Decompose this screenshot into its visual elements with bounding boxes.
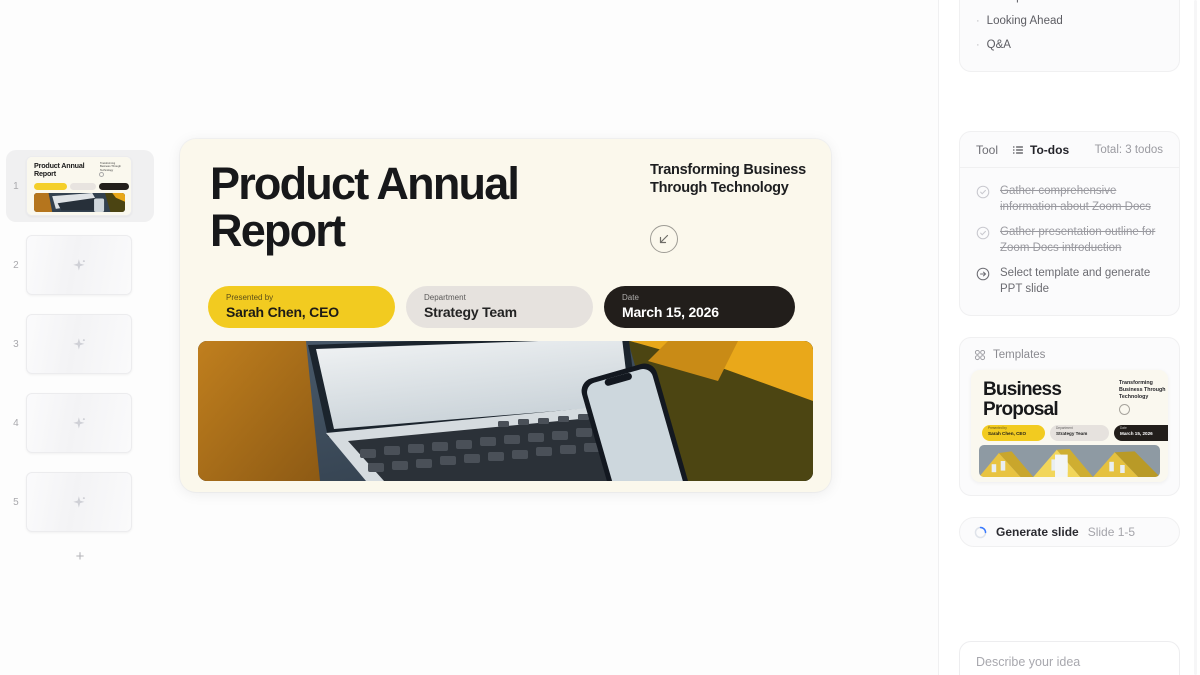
mini-photo bbox=[34, 193, 125, 212]
slide-editor[interactable]: Product Annual Report Transforming Busin… bbox=[180, 139, 831, 492]
templates-card: Templates Business Proposal Transforming… bbox=[959, 337, 1180, 496]
template-pill-presented-by: Presented by Sarah Chen, CEO bbox=[982, 425, 1045, 441]
slide-thumbnail-preview bbox=[26, 314, 132, 374]
slide-tagline[interactable]: Transforming Business Through Technology bbox=[650, 161, 810, 198]
tab-todos-label: To-dos bbox=[1030, 143, 1069, 157]
slide-photo[interactable] bbox=[198, 341, 813, 481]
bullet-icon: · bbox=[976, 38, 980, 53]
mini-slide-title: Product Annual Report bbox=[34, 162, 96, 179]
template-meta-value: March 15, 2026 bbox=[1120, 431, 1168, 437]
todo-label: Gather presentation outline for Zoom Doc… bbox=[1000, 225, 1163, 256]
sparkle-icon bbox=[72, 495, 87, 510]
slide-thumbnail-3[interactable]: 3 bbox=[6, 308, 154, 380]
mini-pill-date bbox=[99, 183, 129, 190]
slide-thumbnail-2[interactable]: 2 bbox=[6, 229, 154, 301]
meta-pill-presented-by[interactable]: Presented by Sarah Chen, CEO bbox=[208, 286, 395, 328]
template-meta-value: Sarah Chen, CEO bbox=[988, 431, 1039, 437]
arrow-down-left-icon bbox=[650, 225, 678, 253]
idea-input-placeholder[interactable]: Describe your idea bbox=[976, 655, 1163, 669]
slide-canvas: Product Annual Report Transforming Busin… bbox=[168, 0, 938, 675]
template-photo bbox=[979, 445, 1160, 477]
slide-thumbnail-preview bbox=[26, 393, 132, 453]
outline-item-label: Example Use Case bbox=[987, 0, 1085, 5]
meta-label: Date bbox=[622, 294, 777, 303]
slide-thumbnail-1[interactable]: 1 Product Annual Report Transforming Bus… bbox=[6, 150, 154, 222]
slide-number: 3 bbox=[6, 339, 26, 350]
add-slide-row: + bbox=[6, 545, 154, 567]
todos-header: Tool To-dos Total: 3 todos bbox=[960, 132, 1179, 168]
generate-status-bar[interactable]: Generate slide Slide 1-5 bbox=[959, 517, 1180, 547]
meta-label: Department bbox=[424, 294, 575, 303]
outline-item[interactable]: · Q&A bbox=[976, 33, 1163, 57]
arrow-right-circle-icon bbox=[976, 267, 991, 286]
template-meta-label: Presented by bbox=[988, 427, 1039, 431]
generate-range: Slide 1-5 bbox=[1088, 525, 1135, 539]
meta-pill-date[interactable]: Date March 15, 2026 bbox=[604, 286, 795, 328]
template-pill-department: Department Strategy Team bbox=[1050, 425, 1109, 441]
slide-number: 4 bbox=[6, 418, 26, 429]
todos-total: Total: 3 todos bbox=[1095, 144, 1163, 156]
todo-item[interactable]: Select template and generate PPT slide bbox=[976, 261, 1163, 302]
outline-card: · Features · Customer Value · Example Us… bbox=[959, 0, 1180, 72]
template-meta-value: Strategy Team bbox=[1056, 431, 1103, 437]
todo-item[interactable]: Gather comprehensive information about Z… bbox=[976, 179, 1163, 220]
slide-number: 2 bbox=[6, 260, 26, 271]
assistant-panel: · Features · Customer Value · Example Us… bbox=[938, 0, 1200, 675]
add-slide-button[interactable]: + bbox=[69, 545, 91, 567]
outline-item[interactable]: · Looking Ahead bbox=[976, 9, 1163, 33]
todos-list: Gather comprehensive information about Z… bbox=[960, 168, 1179, 315]
todo-label: Gather comprehensive information about Z… bbox=[1000, 184, 1163, 215]
template-title: Business Proposal bbox=[983, 380, 1103, 420]
template-meta-label: Department bbox=[1056, 427, 1103, 431]
slide-thumbnail-preview bbox=[26, 472, 132, 532]
tab-tool[interactable]: Tool bbox=[976, 143, 998, 157]
slide-thumbnail-preview: Product Annual Report Transforming Busin… bbox=[26, 156, 132, 216]
slide-thumbnail-4[interactable]: 4 bbox=[6, 387, 154, 459]
template-meta-label: Date bbox=[1120, 427, 1168, 431]
outline-item-label: Looking Ahead bbox=[987, 14, 1063, 29]
template-tagline: Transforming Business Through Technology bbox=[1119, 380, 1168, 401]
sparkle-icon bbox=[72, 337, 87, 352]
mini-pill-department bbox=[70, 183, 96, 190]
mini-slide-tagline: Transforming Business Through Technology bbox=[100, 162, 126, 172]
grid-four-icon bbox=[974, 349, 986, 361]
meta-value: March 15, 2026 bbox=[622, 305, 777, 320]
template-meta-pills: Presented by Sarah Chen, CEO Department … bbox=[982, 425, 1168, 441]
list-icon bbox=[1012, 144, 1024, 156]
todo-item[interactable]: Gather presentation outline for Zoom Doc… bbox=[976, 220, 1163, 261]
templates-title: Templates bbox=[993, 349, 1045, 361]
slide-rail: 1 Product Annual Report Transforming Bus… bbox=[0, 0, 168, 675]
sparkle-icon bbox=[72, 416, 87, 431]
meta-value: Strategy Team bbox=[424, 305, 575, 320]
todo-label: Select template and generate PPT slide bbox=[1000, 266, 1163, 297]
bullet-icon: · bbox=[976, 14, 980, 29]
outline-item-label: Q&A bbox=[987, 38, 1011, 53]
generate-label: Generate slide bbox=[996, 525, 1079, 539]
sparkle-icon bbox=[72, 258, 87, 273]
slide-number: 1 bbox=[6, 181, 26, 192]
tab-todos[interactable]: To-dos bbox=[1012, 143, 1069, 157]
outline-item[interactable]: · Example Use Case bbox=[976, 0, 1163, 9]
templates-header: Templates bbox=[971, 349, 1168, 370]
slide-meta-pills: Presented by Sarah Chen, CEO Department … bbox=[208, 286, 795, 328]
check-circle-icon bbox=[976, 185, 991, 204]
bullet-icon: · bbox=[976, 0, 980, 5]
slide-number: 5 bbox=[6, 497, 26, 508]
loading-spinner-icon bbox=[974, 526, 987, 539]
mini-meta-pills bbox=[34, 183, 129, 190]
meta-value: Sarah Chen, CEO bbox=[226, 305, 377, 320]
template-pill-date: Date March 15, 2026 bbox=[1114, 425, 1168, 441]
template-preview-business-proposal[interactable]: Business Proposal Transforming Business … bbox=[971, 370, 1168, 482]
slide-thumbnail-5[interactable]: 5 bbox=[6, 466, 154, 538]
panel-scrollbar[interactable] bbox=[1194, 0, 1197, 675]
slide-title[interactable]: Product Annual Report bbox=[210, 161, 610, 255]
meta-label: Presented by bbox=[226, 294, 377, 303]
mini-pill-presented bbox=[34, 183, 67, 190]
slide-thumbnail-preview bbox=[26, 235, 132, 295]
idea-composer[interactable]: Describe your idea bbox=[959, 641, 1180, 675]
mini-arrow-icon bbox=[99, 172, 104, 177]
template-arrow-icon bbox=[1119, 404, 1130, 415]
app-root: 1 Product Annual Report Transforming Bus… bbox=[0, 0, 1200, 675]
check-circle-icon bbox=[976, 226, 991, 245]
meta-pill-department[interactable]: Department Strategy Team bbox=[406, 286, 593, 328]
todos-card: Tool To-dos Total: 3 todos bbox=[959, 131, 1180, 316]
